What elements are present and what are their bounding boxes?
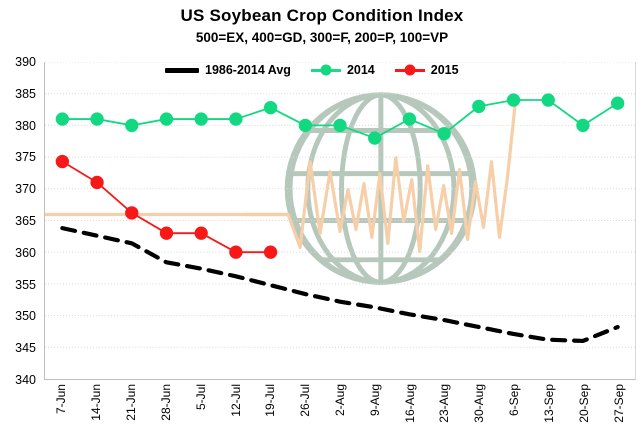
y-tick-label: 350 xyxy=(15,309,36,323)
chart-container: US Soybean Crop Condition Index 500=EX, … xyxy=(0,0,644,440)
y-tick-label: 345 xyxy=(15,341,36,355)
y-tick-label: 385 xyxy=(15,87,36,101)
y-axis-tick-labels: 390385380375370365360355350345340 xyxy=(0,62,40,380)
x-tick-label: 30-Aug xyxy=(472,384,486,423)
x-tick-label: 14-Jun xyxy=(89,384,103,421)
x-tick-label: 7-Jun xyxy=(54,384,68,414)
y-tick-label: 390 xyxy=(15,55,36,69)
y-tick-label: 360 xyxy=(15,246,36,260)
y-tick-label: 380 xyxy=(15,119,36,133)
x-tick-label: 9-Aug xyxy=(368,384,382,416)
x-tick-label: 27-Sep xyxy=(612,384,626,423)
x-tick-label: 13-Sep xyxy=(542,384,556,423)
x-tick-label: 19-Jul xyxy=(263,384,277,417)
x-tick-label: 28-Jun xyxy=(159,384,173,421)
y-tick-label: 370 xyxy=(15,182,36,196)
x-tick-label: 5-Jul xyxy=(194,384,208,410)
x-tick-label: 26-Jul xyxy=(298,384,312,417)
plot-area xyxy=(44,62,636,380)
data-series-layer xyxy=(45,62,635,379)
x-tick-label: 20-Sep xyxy=(577,384,591,423)
x-tick-label: 12-Jul xyxy=(229,384,243,417)
chart-title: US Soybean Crop Condition Index xyxy=(0,6,644,26)
x-tick-label: 16-Aug xyxy=(403,384,417,423)
y-tick-label: 375 xyxy=(15,150,36,164)
y-tick-label: 355 xyxy=(15,278,36,292)
x-tick-label: 2-Aug xyxy=(333,384,347,416)
x-tick-label: 21-Jun xyxy=(124,384,138,421)
y-tick-label: 365 xyxy=(15,214,36,228)
x-tick-label: 23-Aug xyxy=(437,384,451,423)
x-tick-label: 6-Sep xyxy=(507,384,521,416)
chart-subtitle: 500=EX, 400=GD, 300=F, 200=P, 100=VP xyxy=(0,30,644,45)
y-tick-label: 340 xyxy=(15,373,36,387)
